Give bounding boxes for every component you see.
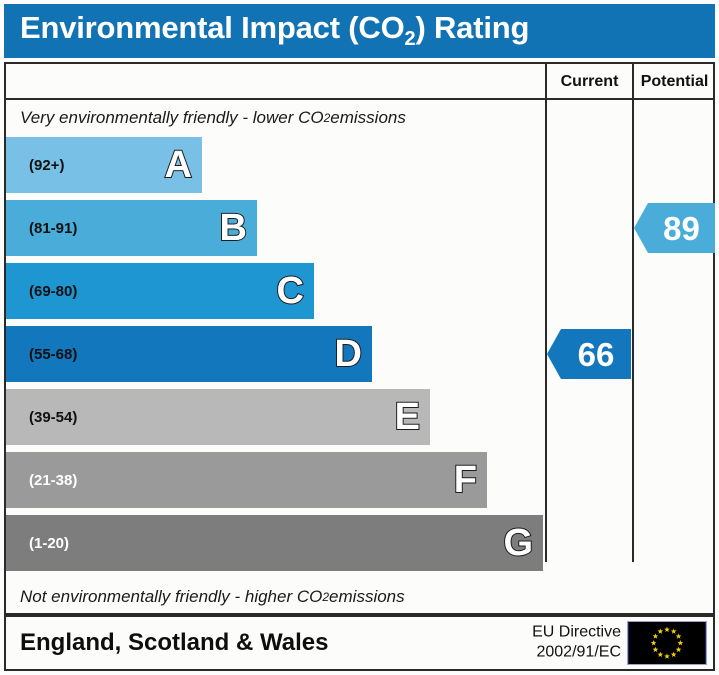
title-suffix: ) Rating bbox=[415, 10, 529, 45]
potential-rating-value: 89 bbox=[649, 212, 700, 245]
column-header-current: Current bbox=[545, 64, 632, 100]
caption-bottom-prefix: Not environmentally friendly - higher CO bbox=[20, 587, 322, 607]
rating-band-row-a: (92+)A bbox=[6, 137, 202, 193]
footer-directive-line1: EU Directive bbox=[532, 623, 621, 643]
rating-band-letter-e: E bbox=[395, 398, 420, 436]
rating-band-row-f: (21-38)F bbox=[6, 452, 487, 508]
rating-band-letter-g: G bbox=[503, 524, 533, 562]
rating-bar-e: (39-54)E bbox=[6, 389, 430, 445]
caption-not-friendly: Not environmentally friendly - higher CO… bbox=[6, 579, 545, 615]
footer-directive-line2: 2002/91/EC bbox=[532, 643, 621, 663]
rating-band-letter-d: D bbox=[335, 335, 362, 373]
rating-bars: (92+)A(81-91)B(69-80)C(55-68)D(39-54)E(2… bbox=[6, 137, 545, 577]
rating-band-letter-c: C bbox=[277, 272, 304, 310]
column-header-row: Current Potential bbox=[6, 64, 713, 100]
rating-range-label-e: (39-54) bbox=[6, 409, 77, 426]
rating-band-row-b: (81-91)B bbox=[6, 200, 257, 256]
footer-directive: EU Directive 2002/91/EC bbox=[532, 623, 621, 664]
column-header-current-label: Current bbox=[561, 73, 619, 91]
title-bar: Environmental Impact (CO2) Rating bbox=[4, 4, 715, 58]
column-header-potential: Potential bbox=[632, 64, 715, 100]
caption-top-suffix: emissions bbox=[330, 108, 406, 128]
ratings-table: Current Potential Very environmentally f… bbox=[4, 62, 715, 615]
rating-band-letter-f: F bbox=[454, 461, 477, 499]
rating-range-label-c: (69-80) bbox=[6, 283, 77, 300]
rating-band-row-g: (1-20)G bbox=[6, 515, 543, 571]
rating-band-row-c: (69-80)C bbox=[6, 263, 314, 319]
rating-bar-c: (69-80)C bbox=[6, 263, 314, 319]
rating-bar-f: (21-38)F bbox=[6, 452, 487, 508]
rating-band-row-d: (55-68)D bbox=[6, 326, 372, 382]
rating-range-label-g: (1-20) bbox=[6, 535, 69, 552]
caption-bottom-suffix: emissions bbox=[329, 587, 405, 607]
rating-band-letter-a: A bbox=[165, 146, 192, 184]
rating-bar-d: (55-68)D bbox=[6, 326, 372, 382]
footer-bar: England, Scotland & Wales EU Directive 2… bbox=[4, 615, 715, 671]
eu-flag-svg bbox=[628, 622, 706, 664]
caption-top-prefix: Very environmentally friendly - lower CO bbox=[20, 108, 324, 128]
rating-bar-a: (92+)A bbox=[6, 137, 202, 193]
footer-region-label: England, Scotland & Wales bbox=[6, 629, 328, 657]
rating-band-letter-b: B bbox=[220, 209, 247, 247]
column-divider-current bbox=[545, 100, 547, 562]
rating-range-label-b: (81-91) bbox=[6, 220, 77, 237]
eu-flag-icon bbox=[627, 621, 707, 665]
title-subscript: 2 bbox=[405, 29, 416, 51]
rating-band-row-e: (39-54)E bbox=[6, 389, 430, 445]
caption-bottom-subscript: 2 bbox=[322, 590, 329, 604]
rating-bar-g: (1-20)G bbox=[6, 515, 543, 571]
current-rating-value: 66 bbox=[564, 338, 615, 371]
epc-environmental-impact-chart: Environmental Impact (CO2) Rating Curren… bbox=[0, 0, 719, 675]
rating-range-label-a: (92+) bbox=[6, 157, 64, 174]
current-rating-arrow: 66 bbox=[547, 329, 631, 379]
rating-bar-b: (81-91)B bbox=[6, 200, 257, 256]
column-divider-potential bbox=[632, 100, 634, 562]
column-header-potential-label: Potential bbox=[641, 73, 709, 91]
rating-range-label-f: (21-38) bbox=[6, 472, 77, 489]
rating-range-label-d: (55-68) bbox=[6, 346, 77, 363]
caption-very-friendly: Very environmentally friendly - lower CO… bbox=[6, 100, 545, 136]
potential-rating-arrow: 89 bbox=[634, 203, 715, 253]
caption-top-subscript: 2 bbox=[324, 111, 331, 125]
page-title: Environmental Impact (CO2) Rating bbox=[4, 10, 529, 51]
title-prefix: Environmental Impact (CO bbox=[20, 10, 405, 45]
